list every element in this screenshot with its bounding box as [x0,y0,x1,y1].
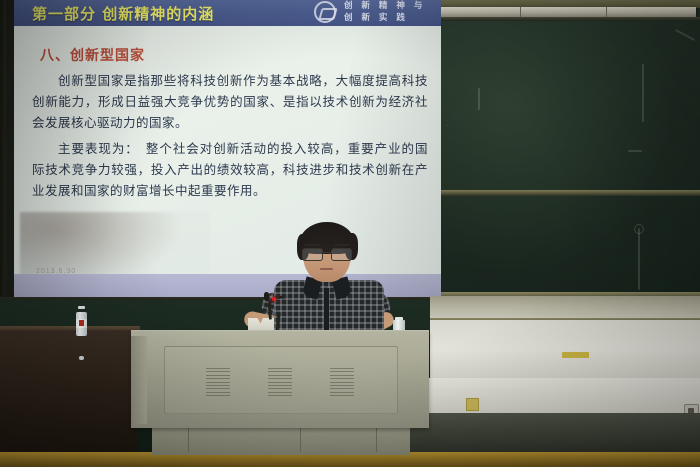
wall-dado [410,413,700,455]
blackboard-divider-rail [430,190,700,196]
ceiling-light-fixture [434,7,696,17]
eyebrow-left [304,244,320,246]
slide-logo-line2: 创 新 实 践 [344,12,440,24]
chalk-mark [628,150,642,152]
wall-sticker [466,398,479,411]
slide-paragraph-1: 创新型国家是指那些将科技创新作为基本战略，大幅度提高科技创新能力，形成日益强大竞… [32,70,428,133]
speaker-figure [268,222,392,340]
chalk-mark [634,224,644,234]
chalk-box [562,352,589,358]
slide-logo-text: 创 新 精 神 与 创 新 实 践 [344,0,440,26]
podium-vent-2 [268,368,292,396]
chalk-mark: · [446,120,449,130]
slide-title-bar: 第一部分 创新精神的内涵 创 新 精 神 与 创 新 实 践 [14,0,441,26]
blackboard: · 我爱我 [430,0,700,296]
lecture-photo-scene: · 我爱我 第一部分 创新精神的内涵 创 新 精 神 与 创 新 实 践 [0,0,700,467]
mouth [320,268,333,270]
slide-logo-line1: 创 新 精 神 与 [344,0,440,12]
water-bottle [76,306,87,336]
light-fixture-shadow [430,17,700,21]
podium-vent-3 [330,368,354,396]
wooden-desk [0,330,138,452]
slide-paragraph-2: 主要表现为： 整个社会对创新活动的投入较高，重要产业的国际技术竞争力较强，投入产… [32,138,428,201]
chalk-mark [642,64,644,122]
podium-vent-1 [206,368,230,396]
microphone-head [264,292,269,301]
chalk-mark [675,29,695,41]
slide-logo-icon [314,1,336,23]
eyebrow-right [334,244,350,246]
podium-side-panel [131,336,147,424]
chalk-mark [638,228,640,290]
wall-white-lower [418,378,700,418]
slide-heading: 八、创新型国家 [40,45,145,65]
eyeglasses-icon [302,248,352,259]
slide-title: 第一部分 创新精神的内涵 [32,3,214,24]
chalk-mark [478,88,480,110]
podium-base [152,425,410,455]
microphone-led [272,297,276,301]
